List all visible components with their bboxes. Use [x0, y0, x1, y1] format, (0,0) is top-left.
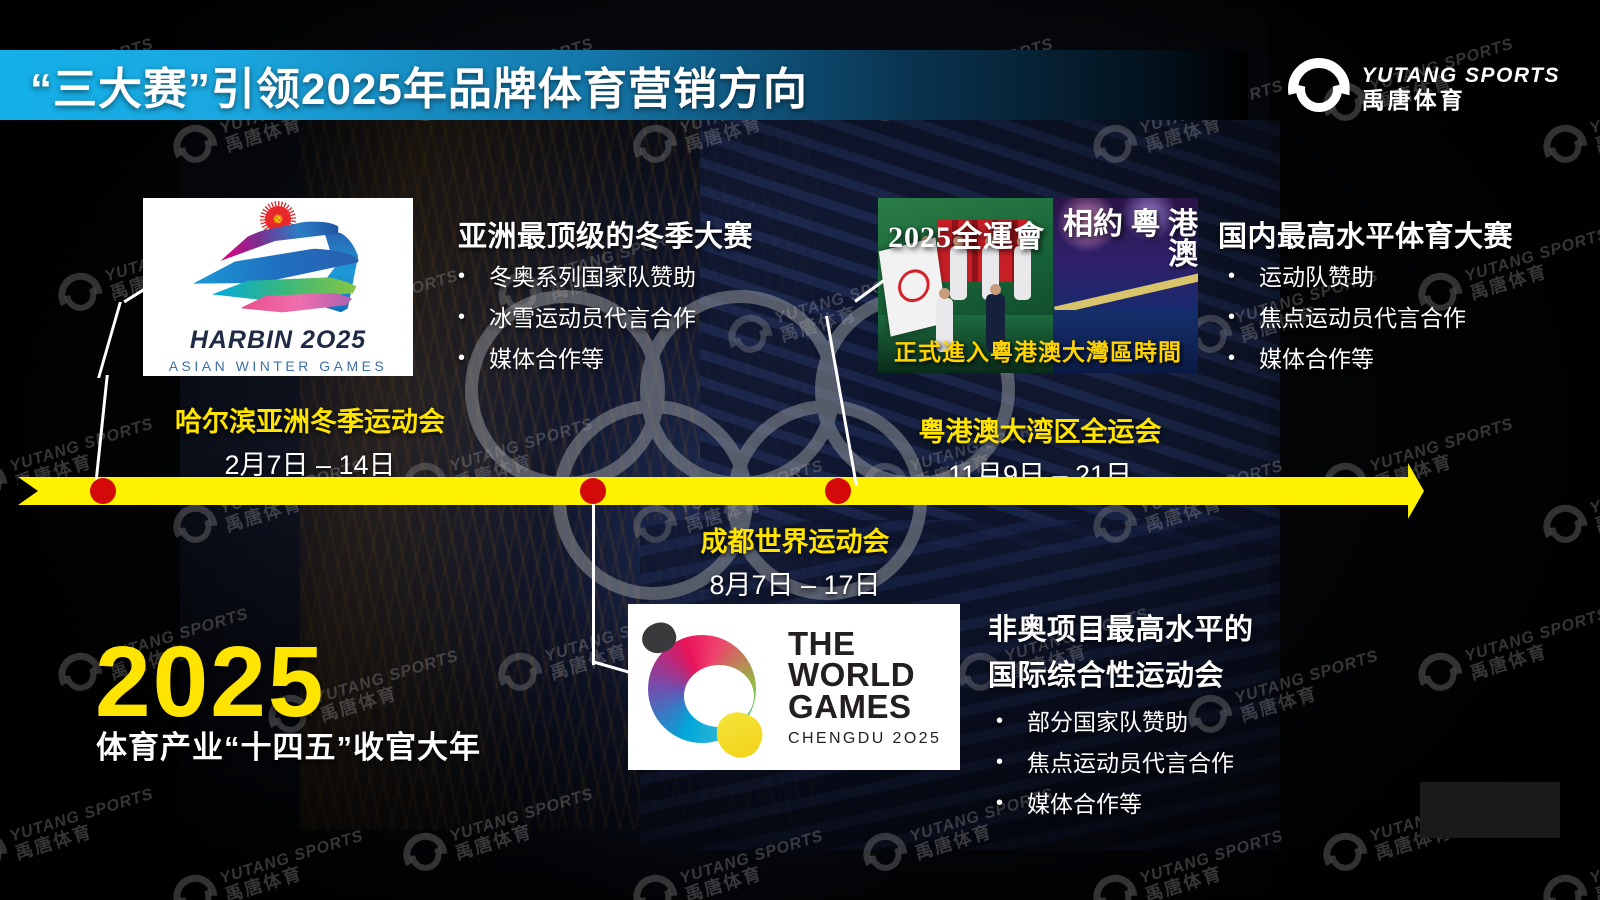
world-games-subtitle: CHENGDU 2O25	[788, 731, 941, 746]
chengdu-event-date: 8月7日 – 17日	[645, 563, 945, 602]
world-games-line-2: WORLD	[788, 659, 941, 691]
bullet-text: 焦点运动员代言合作	[1027, 751, 1234, 775]
photo-caption: 正式進入粵港澳大灣區時間	[878, 333, 1198, 367]
list-item: •媒体合作等	[1228, 347, 1600, 371]
harbin-logo-title: HARBIN 2O25	[143, 326, 413, 355]
bullet-text: 冬奥系列国家队赞助	[489, 265, 696, 289]
harbin-marker[interactable]	[90, 478, 116, 504]
world-games-mark-icon	[642, 621, 774, 753]
bullet-icon: •	[458, 265, 465, 287]
national-games-marker[interactable]	[825, 478, 851, 504]
harbin-logo-subtitle: ASIAN WINTER GAMES	[143, 358, 413, 374]
year-caption: 体育产业“十四五”收官大年	[96, 722, 481, 767]
list-item: •焦点运动员代言合作	[996, 751, 1408, 775]
chengdu-bullet-list: •部分国家队赞助 •焦点运动员代言合作 •媒体合作等	[996, 710, 1408, 816]
chengdu-event-name: 成都世界运动会	[645, 520, 945, 559]
brand-logo: YUTANG SPORTS 禹唐体育	[1288, 58, 1560, 120]
harbin-asian-winter-games-logo	[143, 198, 413, 326]
harbin-event-label: 哈尔滨亚洲冬季运动会 2月7日 – 14日	[145, 400, 475, 482]
world-games-line-1: THE	[788, 628, 941, 660]
corner-placeholder	[1420, 782, 1560, 838]
brand-name-en: YUTANG SPORTS	[1362, 65, 1560, 88]
list-item: •运动队赞助	[1228, 265, 1600, 289]
national-games-event-name: 粤港澳大湾区全运会	[885, 410, 1195, 449]
national-games-text-block: 国内最高水平体育大赛 •运动队赞助 •焦点运动员代言合作 •媒体合作等	[1218, 213, 1600, 388]
harbin-figure-mark	[178, 224, 378, 320]
world-games-line-3: GAMES	[788, 691, 941, 723]
list-item: •冬奥系列国家队赞助	[458, 265, 878, 289]
chengdu-marker[interactable]	[580, 478, 606, 504]
harbin-event-name: 哈尔滨亚洲冬季运动会	[145, 400, 475, 439]
bullet-icon: •	[458, 306, 465, 328]
photo-overlay-title: 2025全運會	[888, 212, 1045, 256]
list-item: •媒体合作等	[996, 792, 1408, 816]
world-games-wordmark: THE WORLD GAMES CHENGDU 2O25	[788, 628, 941, 746]
harbin-bullet-list: •冬奥系列国家队赞助 •冰雪运动员代言合作 •媒体合作等	[458, 265, 878, 371]
chengdu-headline-line2: 国际综合性运动会	[988, 652, 1408, 694]
bullet-text: 媒体合作等	[489, 347, 604, 371]
bullet-text: 运动队赞助	[1259, 265, 1374, 289]
bullet-icon: •	[996, 710, 1003, 732]
the-world-games-chengdu-logo: THE WORLD GAMES CHENGDU 2O25	[628, 604, 960, 770]
bullet-icon: •	[1228, 306, 1235, 328]
bullet-icon: •	[1228, 347, 1235, 369]
harbin-logo-card: HARBIN 2O25 ASIAN WINTER GAMES	[143, 198, 413, 376]
bullet-icon: •	[996, 751, 1003, 773]
chengdu-connector-line	[592, 495, 595, 665]
chengdu-text-block: 非奥项目最高水平的 国际综合性运动会 •部分国家队赞助 •焦点运动员代言合作 •…	[988, 606, 1408, 833]
list-item: •部分国家队赞助	[996, 710, 1408, 734]
page-title: “三大赛”引领2025年品牌体育营销方向	[30, 53, 808, 117]
brand-name-cn: 禹唐体育	[1362, 88, 1560, 113]
list-item: •媒体合作等	[458, 347, 878, 371]
timeline-bar	[18, 477, 1398, 505]
photo-calligraphy: 相約 粵 港 澳	[1048, 210, 1198, 270]
slide-canvas: YUTANG SPORTS禹唐体育YUTANG SPORTS禹唐体育YUTANG…	[0, 0, 1600, 900]
list-item: •冰雪运动员代言合作	[458, 306, 878, 330]
national-games-photo-card: 相約 粵 港 澳 2025全運會 正式進入粵港澳大灣區時間	[878, 198, 1198, 373]
national-games-bullet-list: •运动队赞助 •焦点运动员代言合作 •媒体合作等	[1228, 265, 1600, 371]
bullet-text: 媒体合作等	[1027, 792, 1142, 816]
bullet-text: 部分国家队赞助	[1027, 710, 1188, 734]
bullet-icon: •	[1228, 265, 1235, 287]
year-headline: 2025	[95, 632, 325, 732]
list-item: •焦点运动员代言合作	[1228, 306, 1600, 330]
bullet-text: 冰雪运动员代言合作	[489, 306, 696, 330]
chengdu-event-label: 成都世界运动会 8月7日 – 17日	[645, 520, 945, 602]
title-banner: “三大赛”引领2025年品牌体育营销方向	[0, 50, 1248, 120]
national-games-headline: 国内最高水平体育大赛	[1218, 213, 1600, 255]
bullet-icon: •	[996, 792, 1003, 814]
yutang-swirl-icon	[1288, 58, 1350, 120]
chengdu-headline-line1: 非奥项目最高水平的	[988, 606, 1408, 648]
harbin-text-block: 亚洲最顶级的冬季大赛 •冬奥系列国家队赞助 •冰雪运动员代言合作 •媒体合作等	[458, 213, 878, 388]
harbin-headline: 亚洲最顶级的冬季大赛	[458, 213, 878, 255]
bullet-text: 媒体合作等	[1259, 347, 1374, 371]
bullet-icon: •	[458, 347, 465, 369]
bullet-text: 焦点运动员代言合作	[1259, 306, 1466, 330]
